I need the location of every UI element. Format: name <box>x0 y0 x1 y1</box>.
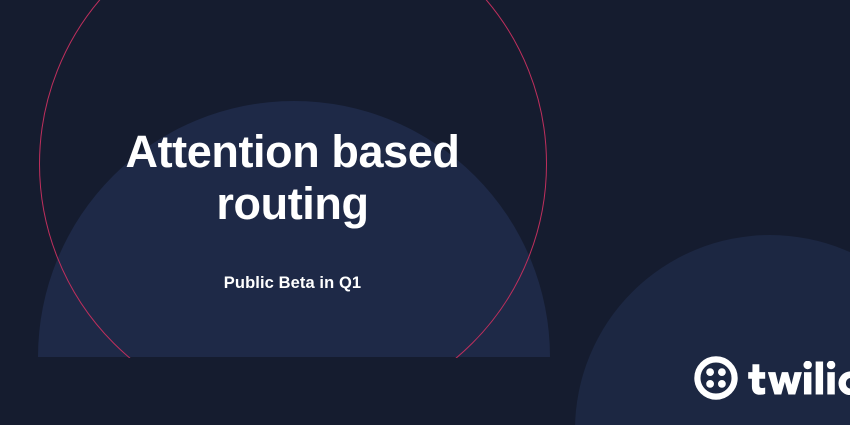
slide-title: Attention based routing <box>0 126 585 230</box>
twilio-logo <box>694 356 850 400</box>
twilio-wordmark <box>745 361 850 395</box>
presentation-slide: Attention based routing Public Beta in Q… <box>0 0 850 425</box>
twilio-dots-circle-icon <box>694 356 738 400</box>
title-block: Attention based routing <box>0 126 585 230</box>
slide-subtitle: Public Beta in Q1 <box>0 274 585 293</box>
